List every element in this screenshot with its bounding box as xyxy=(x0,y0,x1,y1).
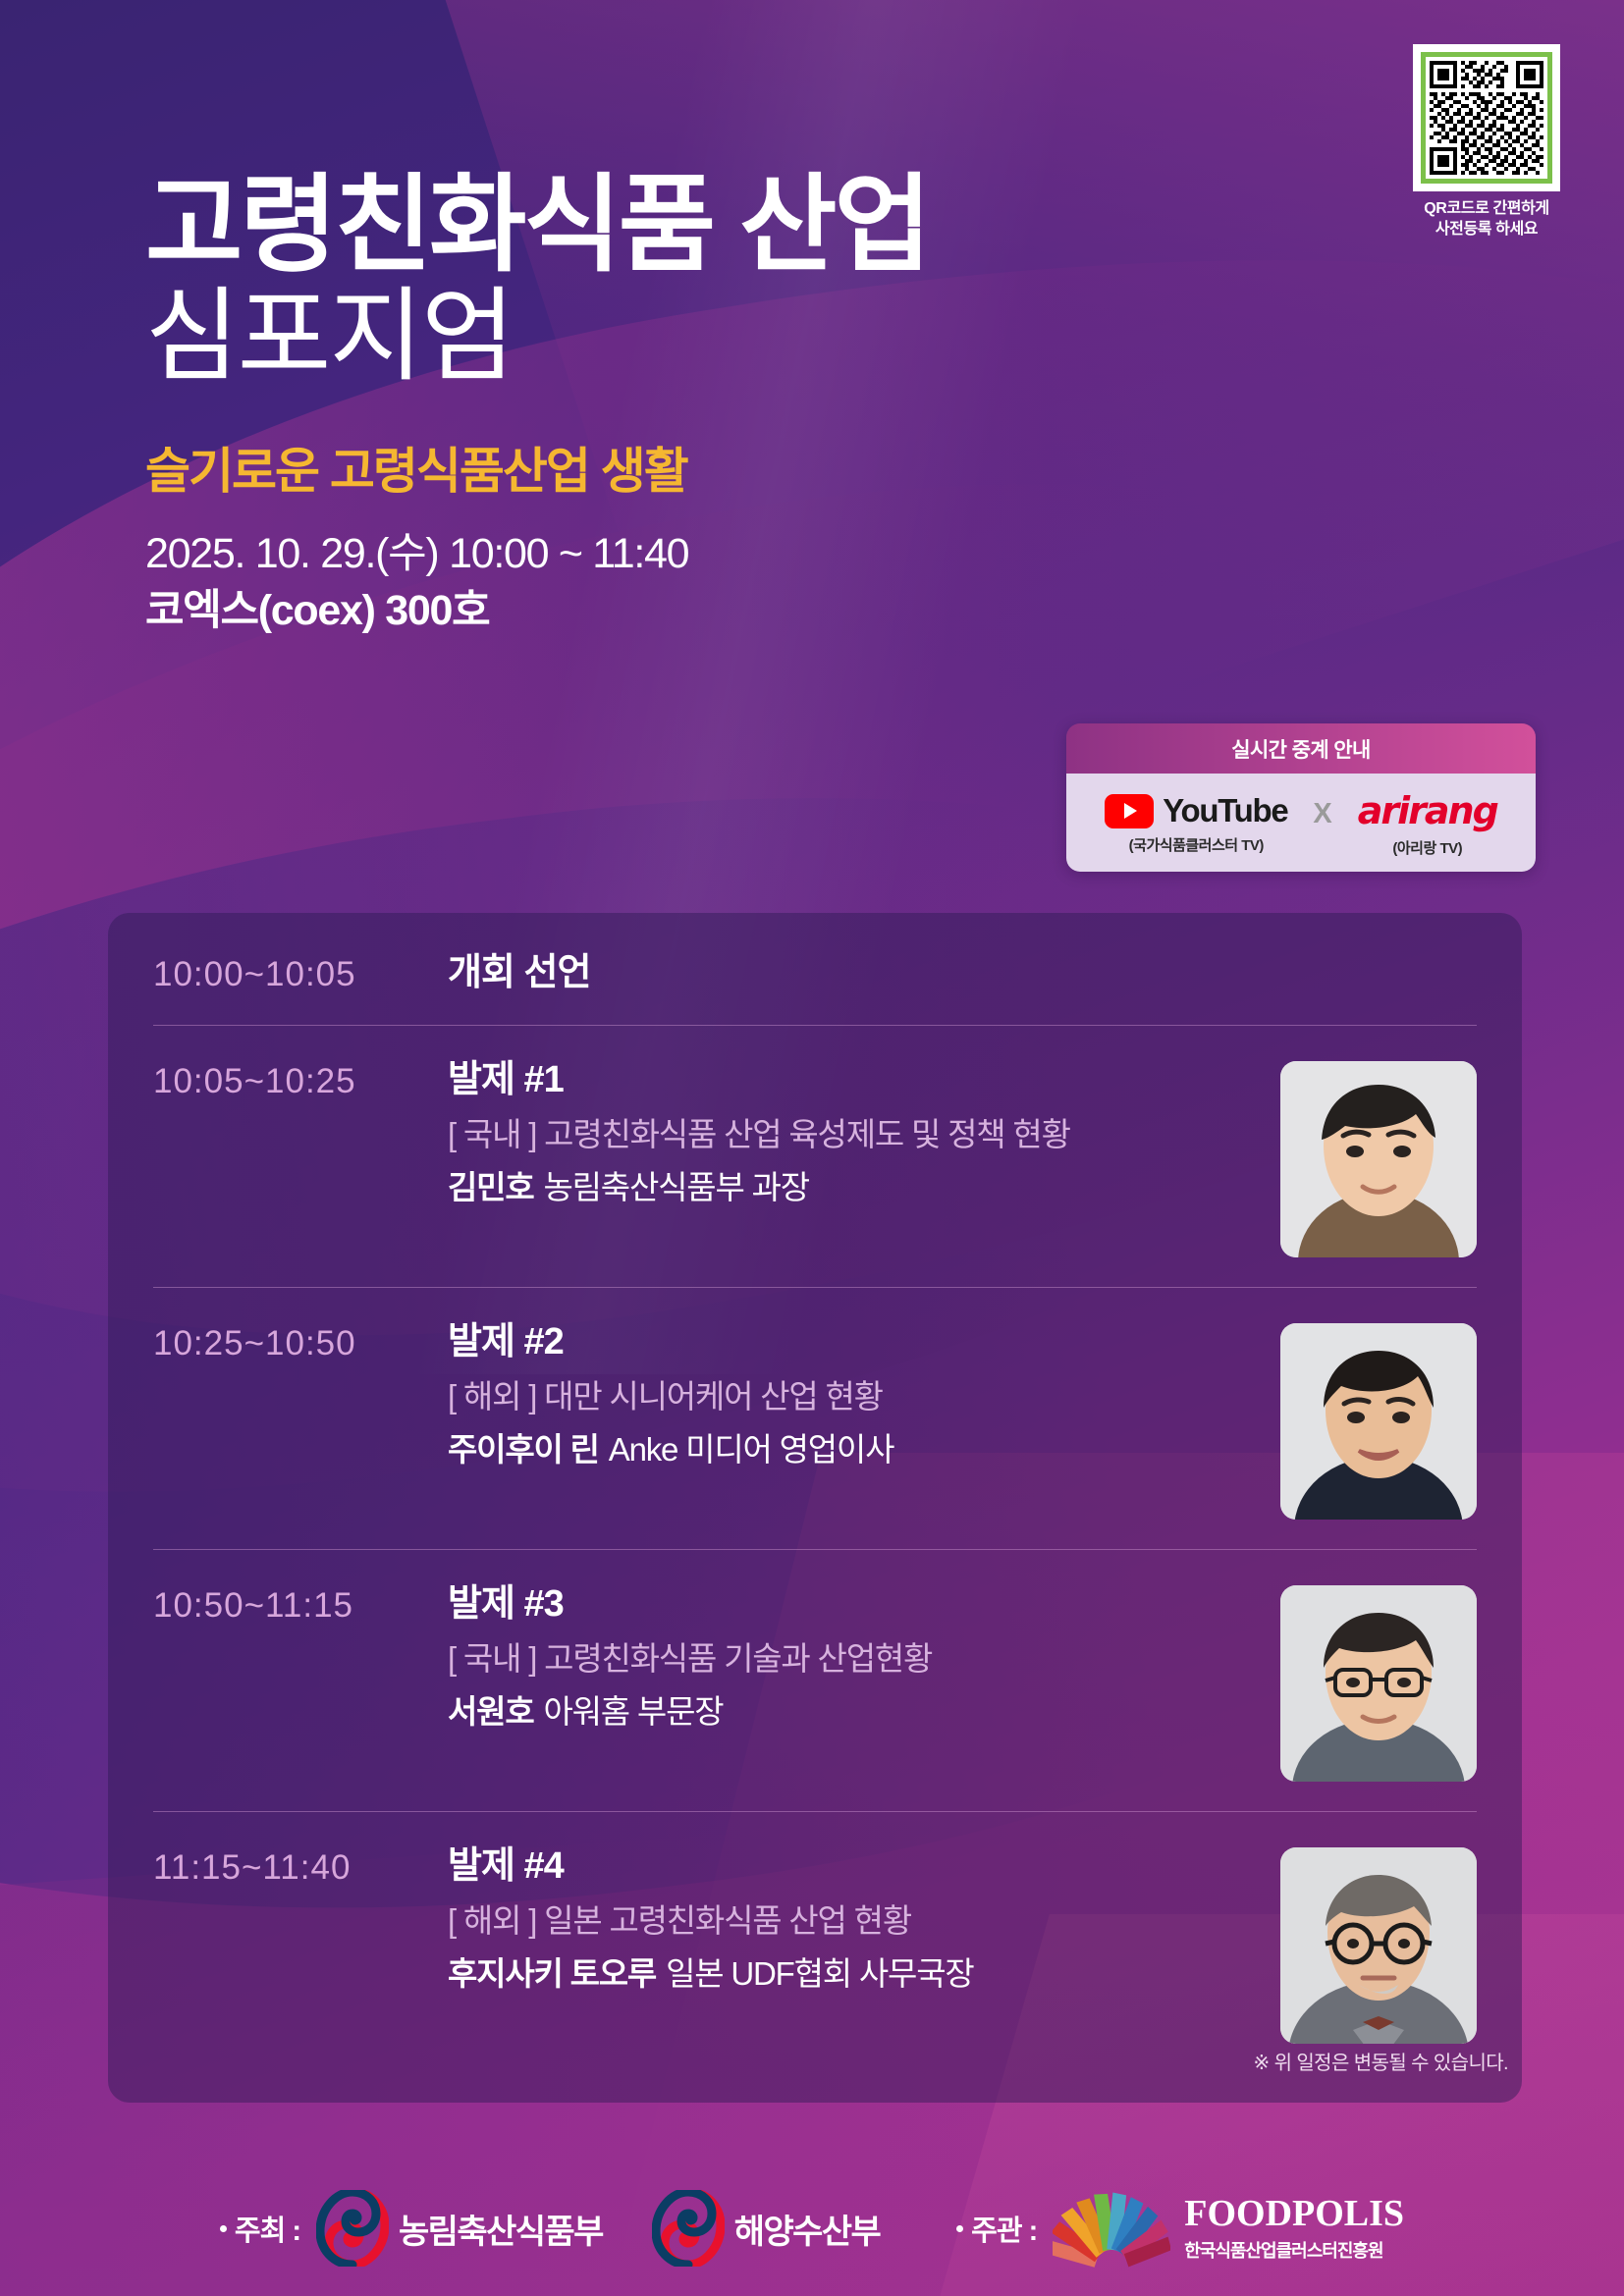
row-speaker: 김민호농림축산식품부 과장 xyxy=(448,1168,1255,1207)
row-title: 발제 #4 xyxy=(448,1845,1255,1889)
host-org-2: 해양수산부 xyxy=(652,2190,880,2267)
row-body: 발제 #1 [ 국내 ] 고령친화식품 산업 육성제도 및 정책 현황 김민호농… xyxy=(448,1059,1255,1207)
organizer-label-text: 주관 : xyxy=(971,2208,1037,2249)
host-label: 주최 : xyxy=(220,2208,300,2249)
row-speaker: 주이후이 린Anke 미디어 영업이사 xyxy=(448,1430,1255,1469)
live-broadcast-logos: YouTube (국가식품클러스터 TV) X arirang (아리랑 TV) xyxy=(1066,774,1536,872)
foodpolis-wordmark: FOODPOLIS xyxy=(1184,2193,1404,2234)
row-topic: [ 해외 ] 대만 시니어케어 산업 현황 xyxy=(448,1377,1255,1416)
arirang-wordmark: arirang xyxy=(1358,789,1497,832)
arirang-channel-name: (아리랑 TV) xyxy=(1358,837,1497,858)
row-speaker: 서원호아워홈 부문장 xyxy=(448,1692,1255,1732)
row-speaker: 후지사키 토오루일본 UDF협회 사무국장 xyxy=(448,1954,1255,1994)
row-time: 10:50~11:15 xyxy=(153,1583,448,1626)
host-group: 주최 : 농림축산식품부 해양수산부 xyxy=(220,2190,880,2267)
youtube-logo-block[interactable]: YouTube (국가식품클러스터 TV) xyxy=(1105,792,1287,855)
youtube-play-icon xyxy=(1105,794,1154,828)
schedule-panel: 10:00~10:05 개회 선언 10:05~10:25 발제 #1 [ 국내… xyxy=(108,913,1522,2103)
speaker-affiliation: 아워홈 부문장 xyxy=(543,1693,723,1730)
foodpolis-korean-name: 한국식품산업클러스터진흥원 xyxy=(1184,2237,1404,2263)
taegeuk-icon xyxy=(316,2190,389,2267)
row-body: 개회 선언 xyxy=(448,952,1477,995)
host-org-1: 농림축산식품부 xyxy=(316,2190,603,2267)
table-row: 10:25~10:50 발제 #2 [ 해외 ] 대만 시니어케어 산업 현황 … xyxy=(153,1287,1477,1549)
organizer-group: 주관 : xyxy=(956,2189,1404,2268)
live-broadcast-card: 실시간 중계 안내 YouTube (국가식품클러스터 TV) X ariran… xyxy=(1066,723,1536,872)
speaker-name: 후지사키 토오루 xyxy=(448,1955,656,1992)
headline-block: 고령친화식품 산업 심포지엄 슬기로운 고령식품산업 생활 2025. 10. … xyxy=(145,172,929,638)
bullet-icon xyxy=(956,2225,963,2232)
host-label-text: 주최 : xyxy=(235,2208,300,2249)
speaker-photo xyxy=(1280,1061,1477,1257)
youtube-wordmark: YouTube xyxy=(1163,792,1287,829)
taegeuk-icon xyxy=(652,2190,725,2267)
speaker-photo xyxy=(1280,1323,1477,1520)
row-body: 발제 #2 [ 해외 ] 대만 시니어케어 산업 현황 주이후이 린Anke 미… xyxy=(448,1321,1255,1469)
schedule-disclaimer: ※ 위 일정은 변동될 수 있습니다. xyxy=(1254,2047,1509,2075)
row-body: 발제 #4 [ 해외 ] 일본 고령친화식품 산업 현황 후지사키 토오루일본 … xyxy=(448,1845,1255,1994)
event-slogan: 슬기로운 고령식품산업 생활 xyxy=(145,432,929,503)
speaker-photo xyxy=(1280,1585,1477,1782)
speaker-affiliation: Anke 미디어 영업이사 xyxy=(609,1431,893,1468)
row-topic: [ 국내 ] 고령친화식품 산업 육성제도 및 정책 현황 xyxy=(448,1115,1255,1154)
table-row: 10:00~10:05 개회 선언 xyxy=(153,923,1477,1025)
qr-caption-line2: 사전등록 하세요 xyxy=(1408,220,1565,240)
event-datetime: 2025. 10. 29.(수) 10:00 ~ 11:40 xyxy=(145,528,929,581)
event-venue: 코엑스(coex) 300호 xyxy=(145,585,929,638)
host-org-1-name: 농림축산식품부 xyxy=(399,2205,603,2253)
row-title: 발제 #1 xyxy=(448,1059,1255,1102)
table-row: 10:05~10:25 발제 #1 [ 국내 ] 고령친화식품 산업 육성제도 … xyxy=(153,1025,1477,1287)
youtube-channel-name: (국가식품클러스터 TV) xyxy=(1105,834,1287,855)
speaker-name: 주이후이 린 xyxy=(448,1431,599,1468)
bullet-icon xyxy=(220,2225,227,2232)
poster-root: QR코드로 간편하게 사전등록 하세요 고령친화식품 산업 심포지엄 슬기로운 … xyxy=(0,0,1624,2296)
qr-code-icon[interactable] xyxy=(1421,52,1552,184)
live-broadcast-header: 실시간 중계 안내 xyxy=(1066,723,1536,774)
qr-caption: QR코드로 간편하게 사전등록 하세요 xyxy=(1408,199,1565,240)
organizer-label: 주관 : xyxy=(956,2208,1037,2249)
speaker-affiliation: 일본 UDF협회 사무국장 xyxy=(666,1955,973,1992)
row-title: 발제 #3 xyxy=(448,1583,1255,1627)
logo-separator-x: X xyxy=(1313,798,1331,850)
row-title: 개회 선언 xyxy=(448,952,1477,995)
foodpolis-fan-icon xyxy=(1053,2189,1170,2268)
row-time: 11:15~11:40 xyxy=(153,1845,448,1888)
row-title: 발제 #2 xyxy=(448,1321,1255,1364)
speaker-affiliation: 농림축산식품부 과장 xyxy=(543,1169,808,1205)
row-body: 발제 #3 [ 국내 ] 고령친화식품 기술과 산업현황 서원호아워홈 부문장 xyxy=(448,1583,1255,1732)
page-title-line2: 심포지엄 xyxy=(145,284,929,391)
arirang-logo-block[interactable]: arirang (아리랑 TV) xyxy=(1358,789,1497,858)
qr-registration-block[interactable]: QR코드로 간편하게 사전등록 하세요 xyxy=(1408,44,1565,240)
row-topic: [ 해외 ] 일본 고령친화식품 산업 현황 xyxy=(448,1901,1255,1941)
table-row: 10:50~11:15 발제 #3 [ 국내 ] 고령친화식품 기술과 산업현황… xyxy=(153,1549,1477,1811)
speaker-photo xyxy=(1280,1847,1477,2044)
qr-frame xyxy=(1413,44,1560,191)
row-time: 10:00~10:05 xyxy=(153,952,448,994)
host-org-2-name: 해양수산부 xyxy=(734,2205,880,2253)
row-time: 10:05~10:25 xyxy=(153,1059,448,1101)
table-row: 11:15~11:40 발제 #4 [ 해외 ] 일본 고령친화식품 산업 현황… xyxy=(153,1811,1477,2073)
page-title-line1: 고령친화식품 산업 xyxy=(145,172,929,278)
speaker-name: 김민호 xyxy=(448,1169,533,1205)
row-time: 10:25~10:50 xyxy=(153,1321,448,1363)
speaker-name: 서원호 xyxy=(448,1693,533,1730)
row-topic: [ 국내 ] 고령친화식품 기술과 산업현황 xyxy=(448,1639,1255,1679)
foodpolis-logo: FOODPOLIS 한국식품산업클러스터진흥원 xyxy=(1053,2189,1404,2268)
footer-credits: 주최 : 농림축산식품부 해양수산부 주관 : xyxy=(0,2174,1624,2282)
qr-caption-line1: QR코드로 간편하게 xyxy=(1408,199,1565,220)
